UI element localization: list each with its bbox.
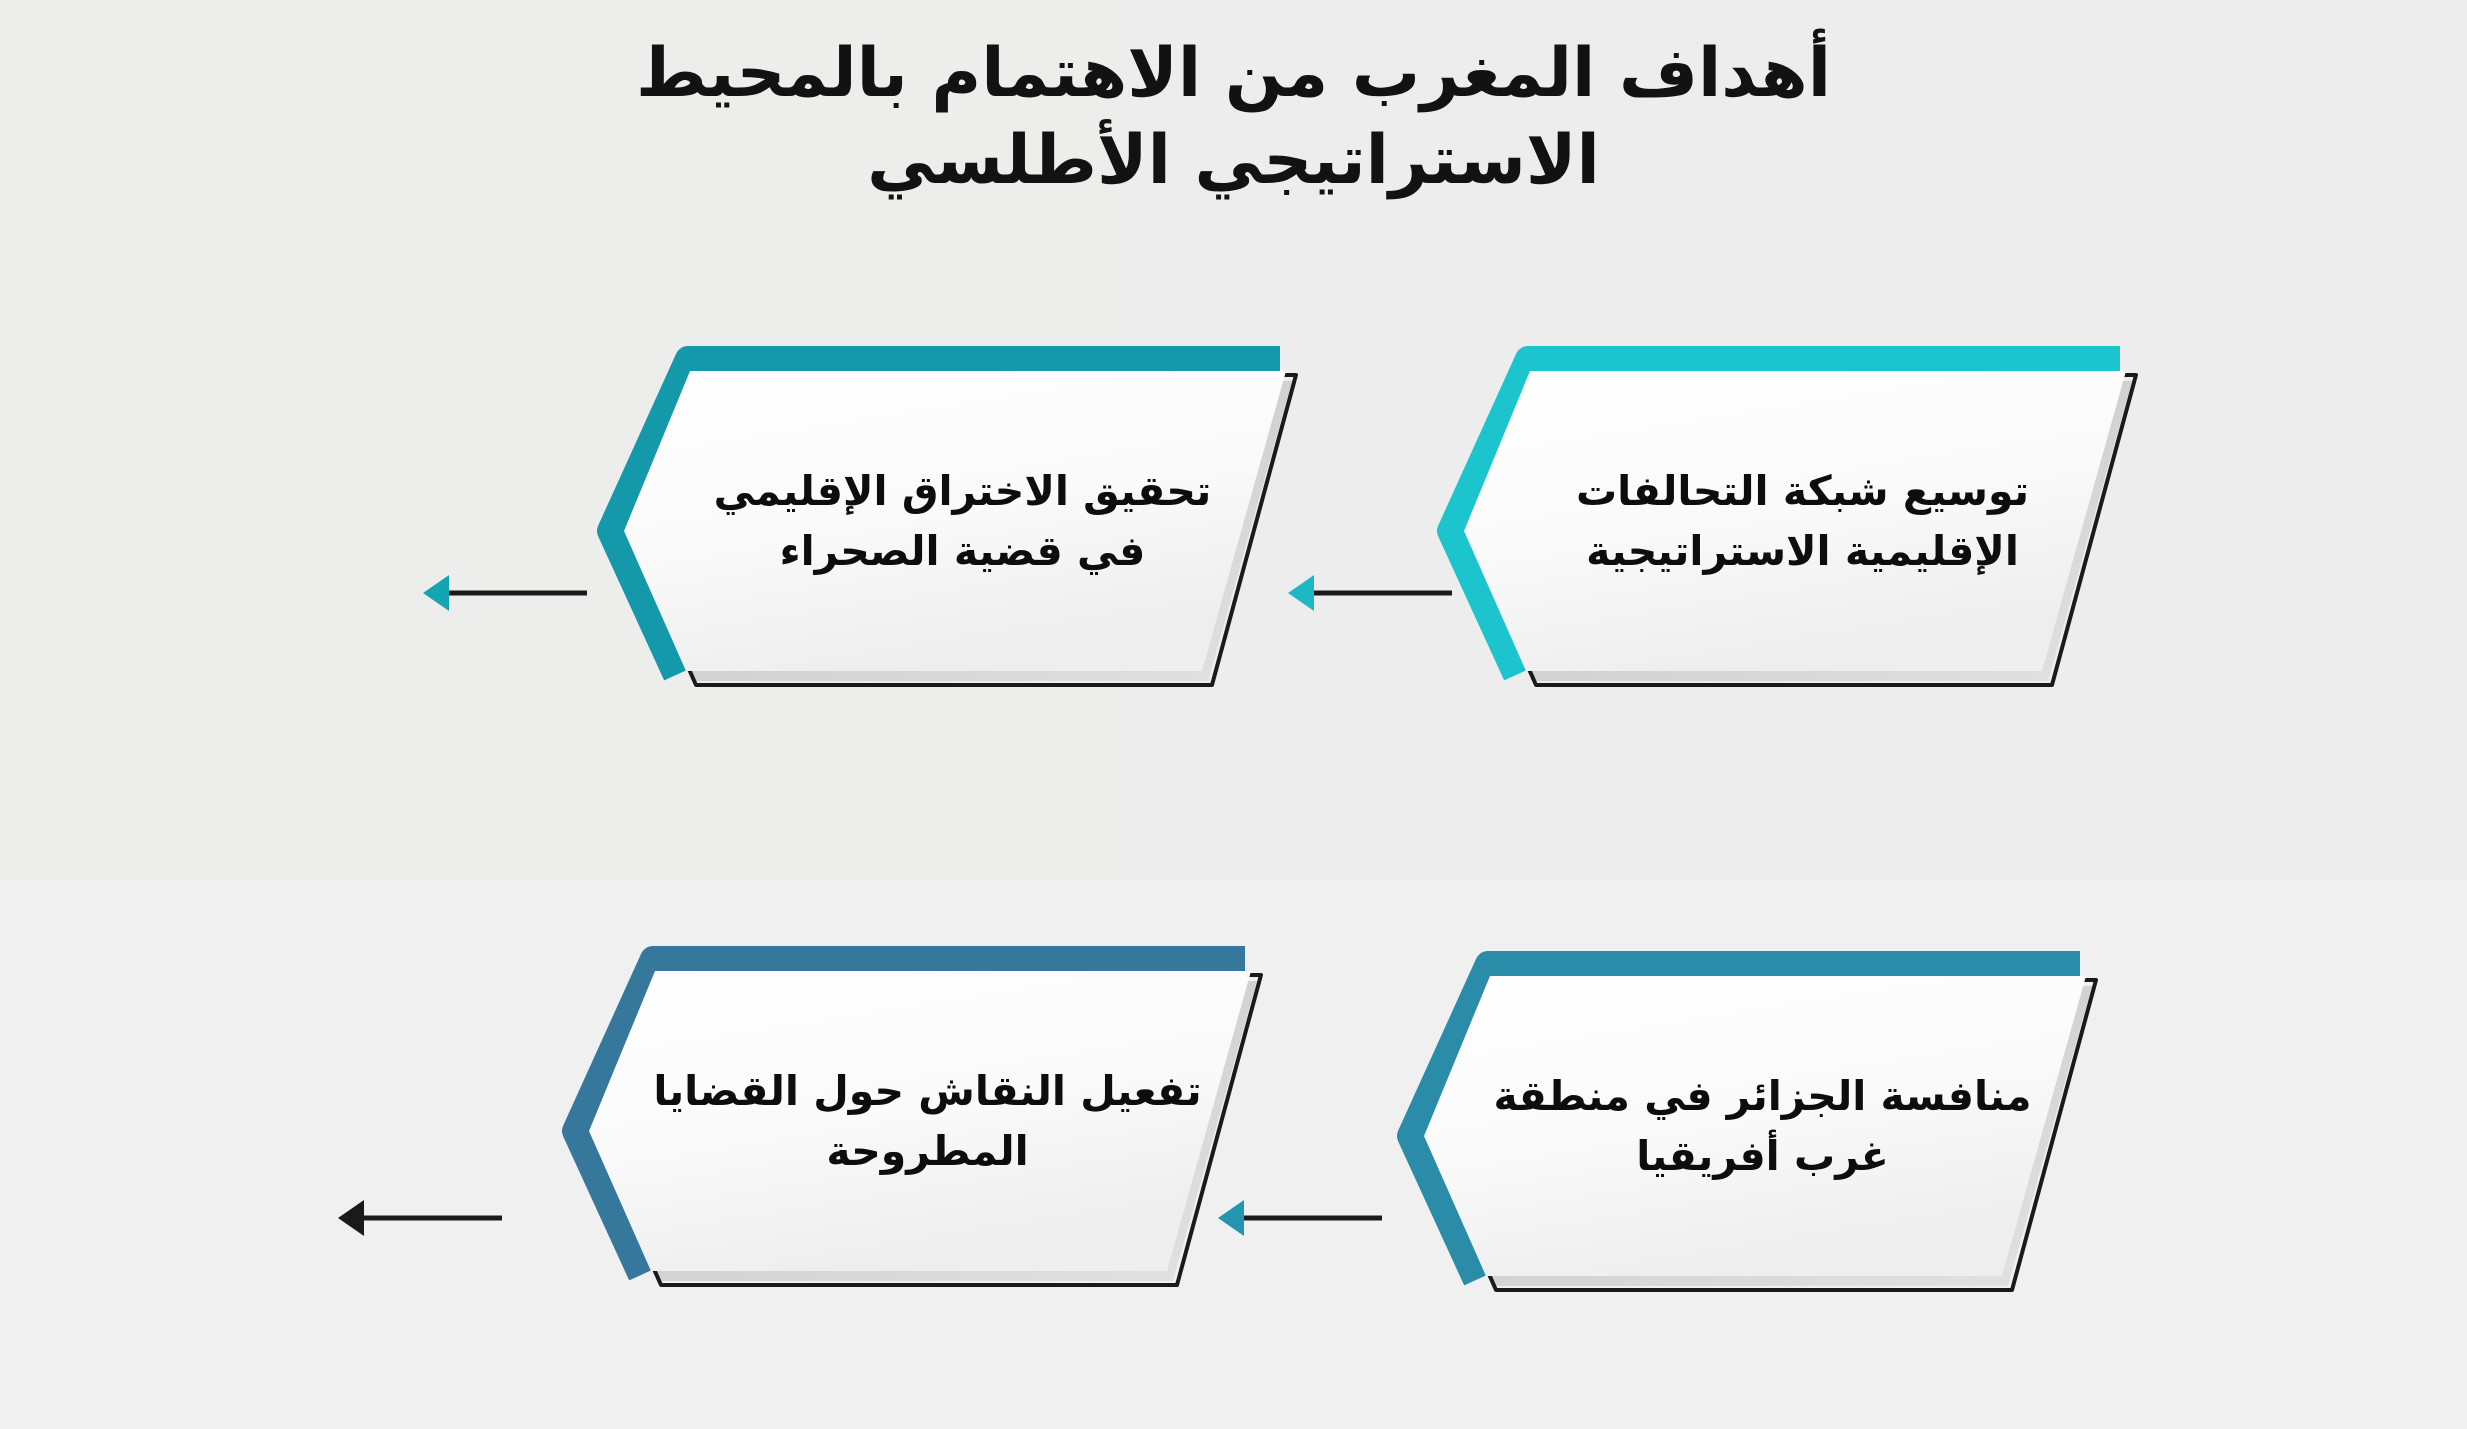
card-shape-top-right: [1420, 345, 2180, 725]
card-body-top-right: [1464, 371, 2126, 671]
arrow-head-icon-top-left: [423, 575, 449, 611]
goal-card-top-left[interactable]: تحقيق الاختراق الإقليمي في قضية الصحراء: [580, 345, 1340, 725]
connector-arrow-bottom-left: [330, 1195, 510, 1241]
card-body-top-left: [624, 371, 1286, 671]
connector-arrow-top-left: [415, 570, 595, 616]
goal-card-bottom-left[interactable]: تفعيل النقاش حول القضايا المطروحة: [545, 945, 1305, 1325]
infographic-canvas: أهداف المغرب من الاهتمام بالمحيط الاسترا…: [0, 0, 2467, 1429]
card-body-bottom-left: [589, 971, 1251, 1271]
card-shape-top-left: [580, 345, 1340, 725]
card-body-bottom-right: [1424, 976, 2086, 1276]
page-title: أهداف المغرب من الاهتمام بالمحيط الاسترا…: [0, 30, 2467, 204]
arrow-head-icon-bottom-left: [338, 1200, 364, 1236]
page-title-line-1: أهداف المغرب من الاهتمام بالمحيط: [380, 30, 2087, 117]
card-shape-bottom-right: [1380, 950, 2140, 1330]
page-title-line-2: الاستراتيجي الأطلسي: [380, 117, 2087, 204]
goal-card-bottom-right[interactable]: منافسة الجزائر في منطقة غرب أفريقيا: [1380, 950, 2140, 1330]
card-shape-bottom-left: [545, 945, 1305, 1325]
goal-card-top-right[interactable]: توسيع شبكة التحالفات الإقليمية الاستراتي…: [1420, 345, 2180, 725]
